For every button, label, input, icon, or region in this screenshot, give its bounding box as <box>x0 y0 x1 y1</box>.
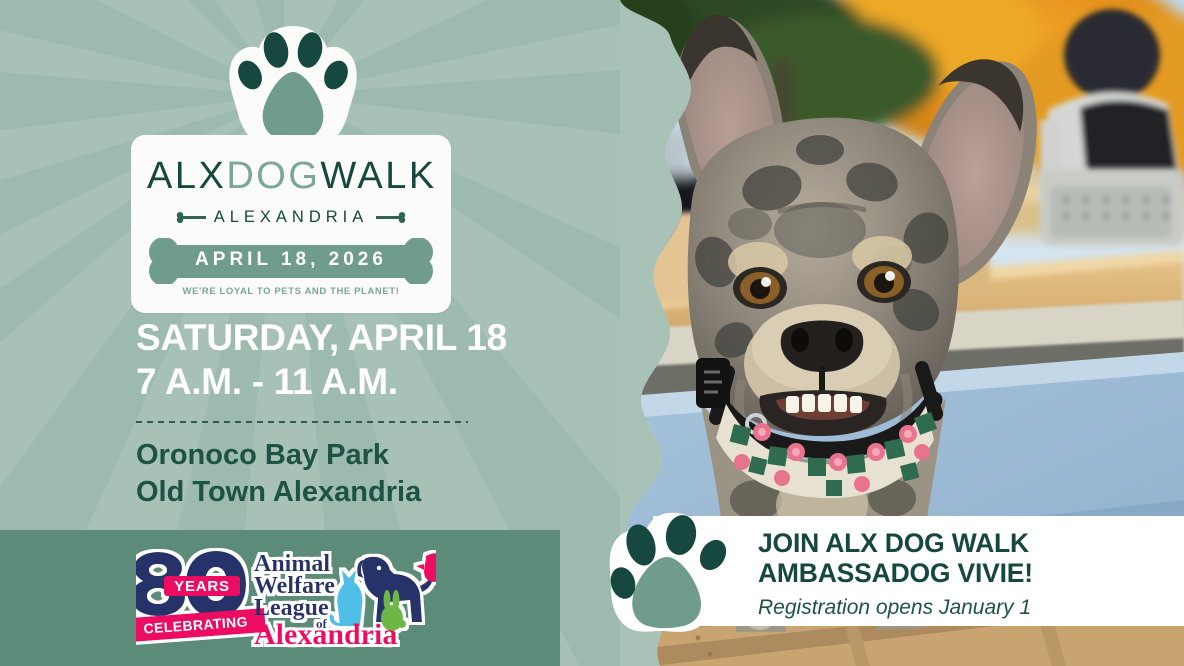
promotional-poster: ALXDOGWALK ALEXANDRIA <box>0 0 1184 666</box>
wordmark-dog: DOG <box>226 155 320 197</box>
event-logo: ALXDOGWALK ALEXANDRIA <box>131 22 451 313</box>
cta-headline-1: JOIN ALX DOG WALK <box>758 529 1033 559</box>
city-label: ALEXANDRIA <box>214 208 369 227</box>
logo-card: ALXDOGWALK ALEXANDRIA <box>131 135 451 313</box>
bone-divider-left-icon <box>176 212 206 223</box>
cta-headline-2: AMBASSADOG VIVIE! <box>758 559 1033 589</box>
awla-city-label: Alexandria <box>254 618 397 648</box>
cta-subtext: Registration opens January 1 <box>758 596 1033 620</box>
date-bone-banner: APRIL 18, 2026 <box>147 238 435 284</box>
event-details: SATURDAY, APRIL 18 7 A.M. - 11 A.M. Oron… <box>136 316 556 512</box>
venue-line-1: Oronoco Bay Park <box>136 437 556 474</box>
event-wordmark: ALXDOGWALK <box>147 157 435 195</box>
awla-years-label: YEARS <box>174 578 230 595</box>
bone-divider-right-icon <box>376 212 406 223</box>
bird-icon <box>416 553 436 582</box>
awla-logo: YEARS CELEBRATING Animal Welfare League … <box>136 540 436 648</box>
venue-line-2: Old Town Alexandria <box>136 474 556 511</box>
event-date-banner: APRIL 18, 2026 <box>147 249 435 271</box>
cta-text-group: JOIN ALX DOG WALK AMBASSADOG VIVIE! Regi… <box>758 529 1033 620</box>
wordmark-walk: WALK <box>320 155 436 197</box>
logo-tagline: WE'RE LOYAL TO PETS AND THE PLANET! <box>147 286 435 297</box>
city-row: ALEXANDRIA <box>147 208 435 227</box>
event-time-line: 7 A.M. - 11 A.M. <box>136 360 556 404</box>
event-date-line: SATURDAY, APRIL 18 <box>136 316 556 360</box>
dashed-divider <box>136 421 468 423</box>
wordmark-alx: ALX <box>147 155 226 197</box>
dog-paw-icon <box>605 505 737 640</box>
